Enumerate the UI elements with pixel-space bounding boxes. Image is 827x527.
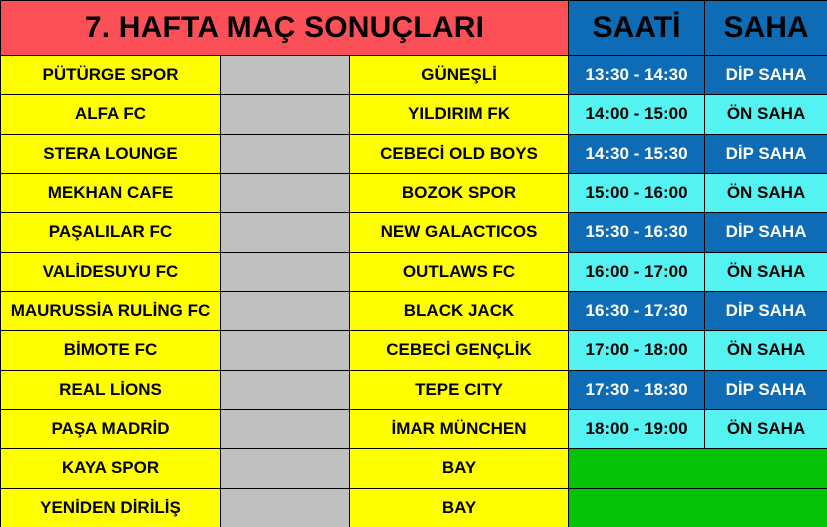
home-team-cell: VALİDESUYU FC (1, 252, 221, 291)
match-field-cell: DİP SAHA (705, 291, 827, 330)
match-time-cell: 17:00 - 18:00 (569, 331, 705, 370)
score-cell (221, 488, 350, 527)
bye-week-cell (569, 449, 827, 488)
away-team-cell: TEPE CITY (350, 370, 569, 409)
match-field-cell: DİP SAHA (705, 134, 827, 173)
match-time-cell: 16:00 - 17:00 (569, 252, 705, 291)
score-cell (221, 173, 350, 212)
score-cell (221, 370, 350, 409)
score-cell (221, 213, 350, 252)
score-cell (221, 252, 350, 291)
home-team-cell: YENİDEN DİRİLİŞ (1, 488, 221, 527)
table-header-row: 7. HAFTA MAÇ SONUÇLARI SAATİ SAHA (1, 1, 827, 56)
match-time-cell: 16:30 - 17:30 (569, 291, 705, 330)
match-time-cell: 15:30 - 16:30 (569, 213, 705, 252)
home-team-cell: PÜTÜRGE SPOR (1, 56, 221, 95)
match-field-cell: ÖN SAHA (705, 331, 827, 370)
match-field-cell: DİP SAHA (705, 370, 827, 409)
away-team-cell: CEBECİ OLD BOYS (350, 134, 569, 173)
score-cell (221, 291, 350, 330)
table-row: REAL LİONSTEPE CITY17:30 - 18:30DİP SAHA (1, 370, 827, 409)
table-row: MEKHAN CAFEBOZOK SPOR15:00 - 16:00ÖN SAH… (1, 173, 827, 212)
match-time-cell: 13:30 - 14:30 (569, 56, 705, 95)
away-team-cell: BAY (350, 449, 569, 488)
table-row: BİMOTE FCCEBECİ GENÇLİK17:00 - 18:00ÖN S… (1, 331, 827, 370)
table-row: PAŞA MADRİDİMAR MÜNCHEN18:00 - 19:00ÖN S… (1, 409, 827, 448)
match-field-cell: ÖN SAHA (705, 173, 827, 212)
table-row: STERA LOUNGECEBECİ OLD BOYS14:30 - 15:30… (1, 134, 827, 173)
home-team-cell: PAŞALILAR FC (1, 213, 221, 252)
away-team-cell: OUTLAWS FC (350, 252, 569, 291)
match-results-table: 7. HAFTA MAÇ SONUÇLARI SAATİ SAHA PÜTÜRG… (0, 0, 827, 527)
match-time-cell: 14:30 - 15:30 (569, 134, 705, 173)
table-body: PÜTÜRGE SPORGÜNEŞLİ13:30 - 14:30DİP SAHA… (1, 56, 827, 527)
match-field-cell: ÖN SAHA (705, 252, 827, 291)
away-team-cell: BAY (350, 488, 569, 527)
score-cell (221, 409, 350, 448)
home-team-cell: ALFA FC (1, 95, 221, 134)
score-cell (221, 95, 350, 134)
table-row: MAURUSSİA RULİNG FCBLACK JACK16:30 - 17:… (1, 291, 827, 330)
match-time-cell: 14:00 - 15:00 (569, 95, 705, 134)
match-field-cell: ÖN SAHA (705, 409, 827, 448)
score-cell (221, 449, 350, 488)
score-cell (221, 134, 350, 173)
home-team-cell: MAURUSSİA RULİNG FC (1, 291, 221, 330)
home-team-cell: PAŞA MADRİD (1, 409, 221, 448)
away-team-cell: GÜNEŞLİ (350, 56, 569, 95)
score-cell (221, 331, 350, 370)
match-field-cell: ÖN SAHA (705, 95, 827, 134)
away-team-cell: YILDIRIM FK (350, 95, 569, 134)
match-time-cell: 18:00 - 19:00 (569, 409, 705, 448)
match-time-cell: 15:00 - 16:00 (569, 173, 705, 212)
home-team-cell: BİMOTE FC (1, 331, 221, 370)
match-time-cell: 17:30 - 18:30 (569, 370, 705, 409)
away-team-cell: BLACK JACK (350, 291, 569, 330)
home-team-cell: STERA LOUNGE (1, 134, 221, 173)
away-team-cell: İMAR MÜNCHEN (350, 409, 569, 448)
score-cell (221, 56, 350, 95)
table-row: PÜTÜRGE SPORGÜNEŞLİ13:30 - 14:30DİP SAHA (1, 56, 827, 95)
table-row: YENİDEN DİRİLİŞBAY (1, 488, 827, 527)
column-header-field: SAHA (705, 1, 827, 56)
bye-week-cell (569, 488, 827, 527)
away-team-cell: BOZOK SPOR (350, 173, 569, 212)
match-field-cell: DİP SAHA (705, 213, 827, 252)
match-field-cell: DİP SAHA (705, 56, 827, 95)
table-row: VALİDESUYU FCOUTLAWS FC16:00 - 17:00ÖN S… (1, 252, 827, 291)
table-row: KAYA SPORBAY (1, 449, 827, 488)
home-team-cell: MEKHAN CAFE (1, 173, 221, 212)
home-team-cell: KAYA SPOR (1, 449, 221, 488)
table-row: ALFA FCYILDIRIM FK14:00 - 15:00ÖN SAHA (1, 95, 827, 134)
away-team-cell: NEW GALACTICOS (350, 213, 569, 252)
away-team-cell: CEBECİ GENÇLİK (350, 331, 569, 370)
home-team-cell: REAL LİONS (1, 370, 221, 409)
page-title: 7. HAFTA MAÇ SONUÇLARI (1, 1, 569, 56)
column-header-time: SAATİ (569, 1, 705, 56)
table-row: PAŞALILAR FCNEW GALACTICOS15:30 - 16:30D… (1, 213, 827, 252)
